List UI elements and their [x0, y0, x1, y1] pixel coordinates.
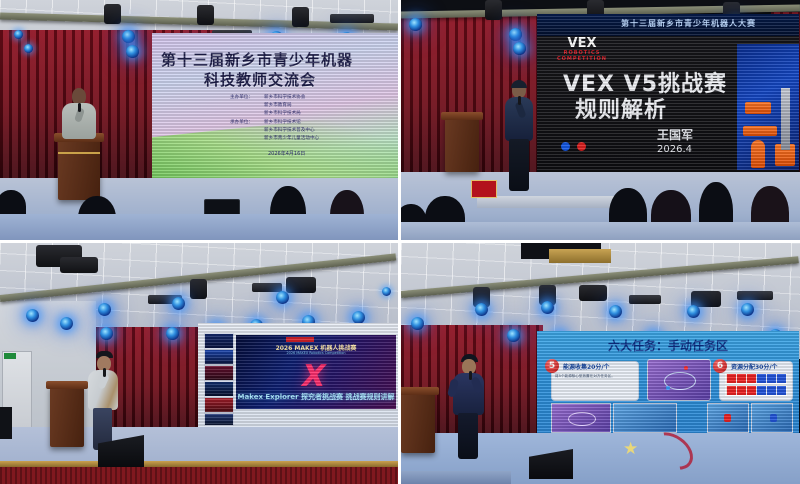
- field-marker-red: [684, 366, 688, 370]
- floor-star-logo: ★: [623, 441, 638, 458]
- speaker-legs: [458, 413, 478, 459]
- light-fixture: [286, 277, 316, 293]
- screen-thumbnail: [204, 397, 234, 413]
- speaker-hair: [511, 80, 527, 88]
- speaker: [451, 355, 487, 457]
- microphone: [78, 103, 81, 112]
- stage-light: [26, 309, 39, 322]
- screen-organizer-2: 新乡市教育局: [264, 103, 292, 110]
- stage-light: [276, 291, 289, 304]
- field-tower: [751, 140, 765, 168]
- light-fixture: [292, 7, 309, 27]
- podium: [58, 138, 100, 200]
- stage-light: [24, 44, 33, 53]
- speaker-legs: [509, 139, 529, 191]
- screen-thumbnail: [204, 365, 234, 381]
- score-grid-row2: [725, 385, 787, 396]
- field-thumb: [707, 403, 749, 433]
- stage-light: [122, 30, 135, 43]
- vex-logo-competition: COMPETITION: [551, 56, 613, 62]
- stage-light: [166, 327, 179, 340]
- thumb-marker-blue: [770, 414, 777, 422]
- microphone: [469, 371, 472, 380]
- screen-bottom-line: Makex Explorer 探究者挑战赛 挑战赛规则讲解: [236, 392, 396, 402]
- microphone: [103, 368, 106, 377]
- screen-title: 六大任务：手动任务区: [537, 337, 799, 354]
- field-goal: [745, 102, 771, 114]
- podium: [401, 391, 435, 453]
- screen-thumbnail: [204, 413, 234, 426]
- screen-date: 2026.4: [657, 144, 692, 155]
- light-fixture: [485, 0, 502, 20]
- stage-light: [475, 303, 488, 316]
- stage-light: [409, 18, 422, 31]
- task-label-6: 资源分配30分/个: [731, 362, 778, 371]
- light-fixture: [60, 257, 98, 273]
- screen-presenter: 王国军: [657, 126, 693, 143]
- stage-light: [126, 45, 139, 58]
- light-fixture: [197, 5, 214, 25]
- podium-top: [441, 112, 483, 120]
- light-bar: [252, 283, 282, 292]
- screen-banner-text: 第十三届新乡市青少年机器人大赛: [621, 18, 756, 29]
- stage-skirt: [0, 467, 398, 484]
- stage-light: [382, 287, 391, 296]
- screen-organizer-label: 主办单位：: [230, 95, 253, 102]
- podium: [50, 385, 84, 447]
- speaker: [60, 88, 100, 144]
- stage-light: [411, 317, 424, 330]
- podium-top: [46, 381, 88, 389]
- task-badge-5: 5: [545, 359, 559, 373]
- stage-light: [60, 317, 73, 330]
- task-label-5: 能源收集20分/个: [563, 362, 610, 371]
- accent-dot-blue: [561, 142, 570, 151]
- vex-logo: VEX ROBOTICS COMPETITION: [551, 38, 613, 62]
- field-thumb: [613, 403, 677, 433]
- light-bar: [737, 291, 773, 300]
- panel-bottom-left: 2026 MAKEX 机器人挑战赛 2026 MAKEX Robotics Co…: [0, 243, 398, 484]
- stage-light: [14, 30, 23, 39]
- light-fixture: [104, 4, 121, 24]
- speaker: [501, 82, 537, 200]
- screen-title-line2: 科技教师交流会: [204, 69, 316, 90]
- field-diagram-center: [647, 359, 711, 401]
- field-thumb: [751, 403, 793, 433]
- screen-title-line2: 规则解析: [575, 92, 667, 124]
- light-fixture: [579, 285, 607, 301]
- speaker: [86, 351, 120, 449]
- stage-light: [609, 305, 622, 318]
- podium-trim: [58, 152, 100, 154]
- led-screen: 第十三届新乡市青少年机器 科技教师交流会 主办单位： 新乡市科学技术协会 新乡市…: [152, 33, 398, 180]
- field-marker-blue: [666, 386, 670, 390]
- podium: [445, 116, 479, 172]
- light-fixture: [190, 279, 207, 299]
- stage-light: [509, 28, 522, 41]
- photo-collage: 第十三届新乡市青少年机器 科技教师交流会 主办单位： 新乡市科学技术协会 新乡市…: [0, 0, 800, 484]
- field-goal: [743, 126, 777, 136]
- screen-main-graphic: 2026 MAKEX 机器人挑战赛 2026 MAKEX Robotics Co…: [236, 335, 396, 409]
- screen-organizer-3: 新乡市科学技术局: [264, 111, 301, 118]
- ceiling-panel-gold: [549, 249, 611, 263]
- stage-light: [741, 303, 754, 316]
- front-desk: [0, 214, 398, 240]
- thumb-marker-red: [724, 414, 731, 422]
- screen-main-subtitle: 2026 MAKEX Robotics Competition: [236, 351, 396, 355]
- competition-field-image: [737, 44, 799, 170]
- accent-dot-red: [577, 142, 586, 151]
- screen-logo-mark: X: [298, 359, 329, 394]
- screen-header-badge: [286, 337, 314, 342]
- screen-host-label: 承办单位：: [230, 120, 253, 127]
- exit-sign: [4, 353, 16, 359]
- led-screen: VEX ROBOTICS COMPETITION 第十三届新乡市青少年机器人大赛…: [537, 14, 799, 176]
- microphone: [518, 96, 521, 105]
- stage-step: [401, 471, 511, 484]
- stage-light: [513, 42, 526, 55]
- screen-host-1: 新乡市科学技术馆: [264, 120, 301, 127]
- screen-thumbnail: [204, 349, 234, 365]
- screen-title-line1: 第十三届新乡市青少年机器: [161, 49, 353, 70]
- stage-light: [98, 303, 111, 316]
- field-thumb-ring: [568, 412, 596, 426]
- led-screen: 2026 MAKEX 机器人挑战赛 2026 MAKEX Robotics Co…: [198, 323, 398, 427]
- score-grid-row1: [725, 373, 787, 384]
- panel-bottom-right: 六大任务：手动任务区 5 能源收集20分/个 将5个能源核心型放置在对方任务区。…: [401, 243, 800, 484]
- task-note-5: 将5个能源核心型放置在对方任务区。: [555, 374, 633, 379]
- light-bar: [629, 295, 661, 304]
- screen-host-3: 新乡市青少年儿童活动中心: [264, 136, 319, 143]
- screen-organizer-1: 新乡市科学技术协会: [264, 95, 305, 102]
- vex-logo-word: VEX: [568, 36, 597, 51]
- screen-date: 2026年4月16日: [268, 151, 305, 158]
- stage-light: [507, 329, 520, 342]
- stage-light: [687, 305, 700, 318]
- screen-thumbnail: [204, 381, 234, 397]
- screen-thumbnail: [204, 333, 234, 349]
- stage-light: [172, 297, 185, 310]
- panel-top-left: 第十三届新乡市青少年机器 科技教师交流会 主办单位： 新乡市科学技术协会 新乡市…: [0, 0, 398, 240]
- speaker-cabinet: [0, 407, 12, 439]
- task-badge-6: 6: [713, 359, 727, 373]
- front-desk: [401, 222, 800, 240]
- screen-host-2: 新乡市科学技术普及中心: [264, 128, 315, 135]
- panel-top-right: VEX ROBOTICS COMPETITION 第十三届新乡市青少年机器人大赛…: [401, 0, 800, 240]
- led-screen: 六大任务：手动任务区 5 能源收集20分/个 将5个能源核心型放置在对方任务区。…: [537, 331, 799, 435]
- red-sign: [471, 180, 497, 198]
- stage-light: [541, 301, 554, 314]
- field-thumb: [551, 403, 611, 433]
- light-bar: [330, 14, 374, 23]
- stage-light: [100, 327, 113, 340]
- podium-top: [401, 387, 439, 395]
- field-post: [781, 88, 790, 150]
